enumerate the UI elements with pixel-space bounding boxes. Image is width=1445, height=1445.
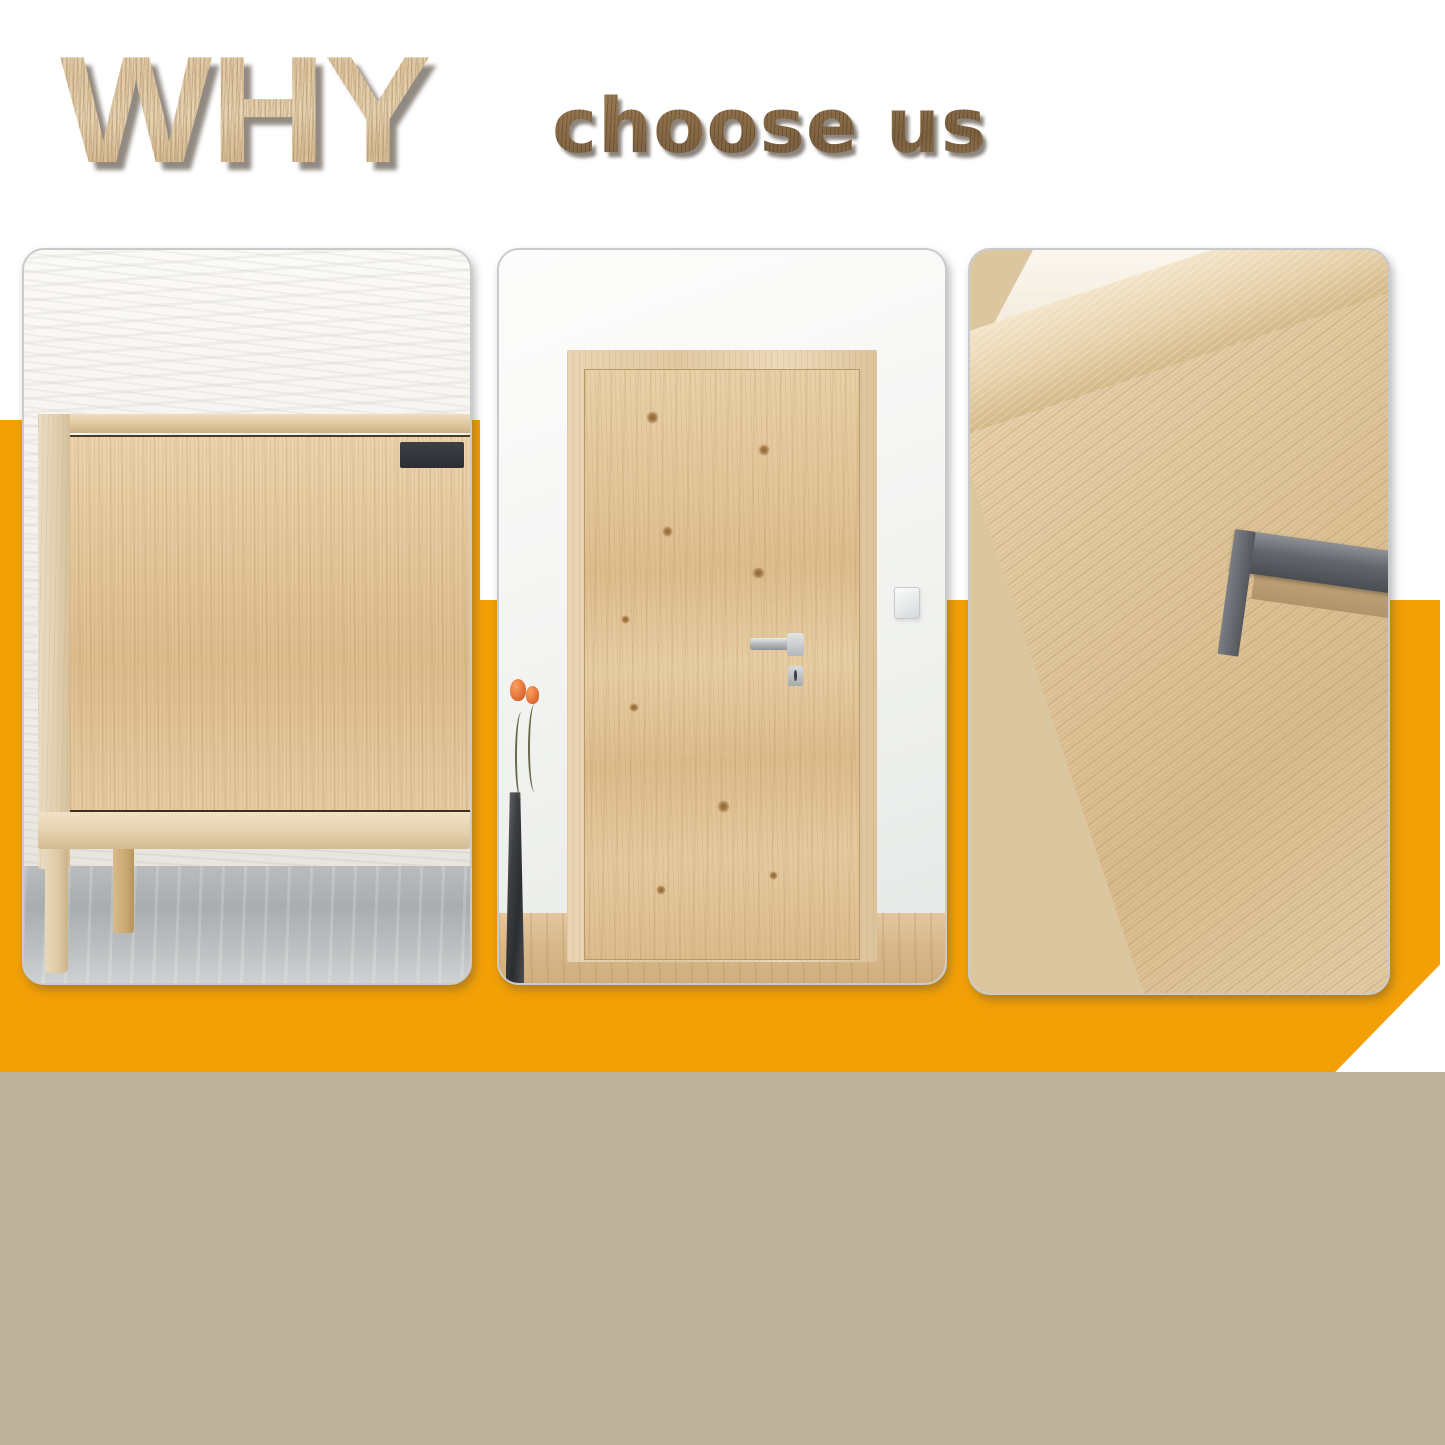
wood-knot (621, 615, 631, 624)
dried-poppy-flower (526, 686, 538, 704)
door-frame (567, 350, 877, 962)
page-title-choose: choose us (552, 88, 987, 164)
gallery-image-oak-sideboard-cabinet (22, 248, 472, 985)
gallery-image-oak-drawer-edge-handle (968, 248, 1390, 995)
cabinet-bottom-rail (38, 812, 470, 849)
cabinet-top-band (38, 414, 470, 433)
gallery-image-oak-interior-door (497, 248, 947, 985)
floor-concrete (24, 866, 470, 983)
door-lock-keyhole[interactable] (788, 666, 803, 686)
door-leaf (584, 369, 860, 960)
features-panel (0, 1072, 1445, 1445)
cabinet-drawer-front (70, 435, 470, 812)
wood-knot (629, 703, 639, 712)
door-handle-rosette (787, 633, 805, 657)
header: WHY choose us (0, 0, 1445, 225)
light-switch[interactable] (894, 587, 920, 619)
wood-knot (758, 444, 770, 456)
photo-oak-sideboard-cabinet (24, 250, 470, 983)
wood-knot (717, 800, 731, 813)
dried-poppy-flower (510, 679, 526, 701)
wood-knot (752, 567, 764, 579)
wood-knot (656, 885, 666, 894)
cabinet-leg-rear (113, 849, 134, 933)
photo-oak-interior-door (499, 250, 945, 983)
wood-knot (769, 871, 779, 880)
page-title-why: WHY (60, 34, 430, 186)
photo-oak-drawer-edge-handle (970, 250, 1388, 993)
wood-knot (662, 526, 673, 537)
wood-knot (646, 411, 660, 424)
cabinet-left-post (38, 414, 70, 868)
drawer-handle-bar (400, 442, 464, 468)
flower-stem (528, 704, 541, 792)
cabinet-leg-front (45, 849, 68, 974)
